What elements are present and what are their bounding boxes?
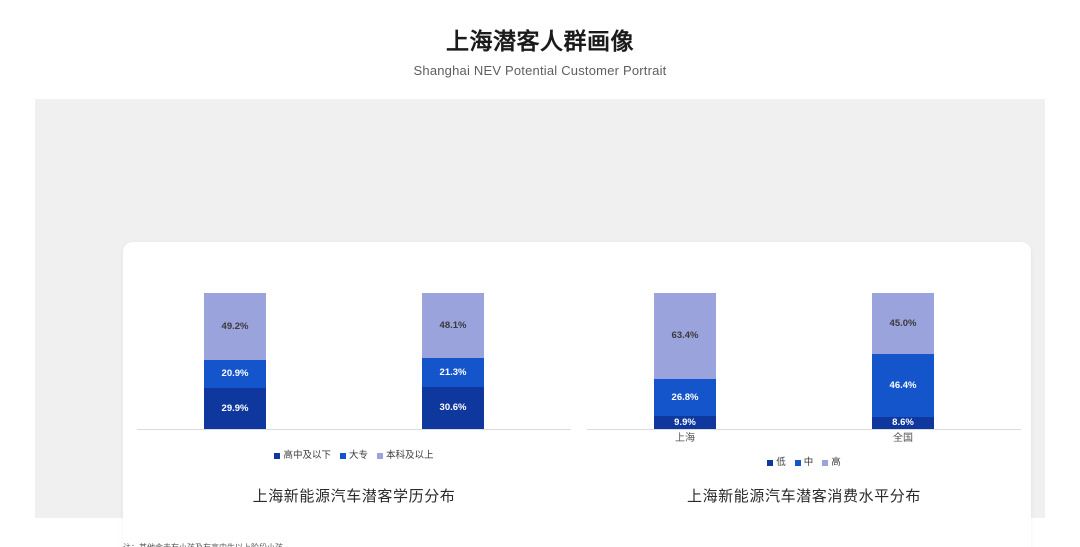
- bar-segment-label: 45.0%: [890, 319, 917, 329]
- bar-segment-label: 49.2%: [222, 322, 249, 332]
- category-label-shanghai: 上海: [654, 432, 716, 446]
- legend-swatch-high: [377, 453, 383, 459]
- bar-segment-label: 48.1%: [440, 321, 467, 331]
- legend-item: 中: [795, 457, 814, 468]
- bar-segment-label: 21.3%: [440, 368, 467, 378]
- legend-item: 高中及以下: [274, 450, 331, 461]
- chart-consumption-category-labels: 上海 全国: [579, 432, 1029, 448]
- chart-consumption-bar-2: 8.6% 46.4% 45.0%: [872, 293, 934, 429]
- legend-swatch-mid: [340, 453, 346, 459]
- bar-segment-high: 49.2%: [204, 293, 266, 360]
- bar-segment-high: 48.1%: [422, 293, 484, 358]
- bar-segment-mid: 20.9%: [204, 360, 266, 388]
- slide-panel: 29.9% 20.9% 49.2% 30.6%: [35, 99, 1045, 518]
- bar-segment-low: 8.6%: [872, 417, 934, 429]
- chart-education-bar-1: 29.9% 20.9% 49.2%: [204, 293, 266, 429]
- legend-swatch-low: [274, 453, 280, 459]
- bar-segment-label: 30.6%: [440, 403, 467, 413]
- page-header: 上海潜客人群画像 Shanghai NEV Potential Customer…: [0, 26, 1080, 79]
- legend-label: 大专: [349, 450, 368, 461]
- legend-label: 低: [776, 457, 786, 468]
- legend-label: 中: [804, 457, 814, 468]
- legend-swatch-mid: [795, 460, 801, 466]
- chart-education-caption: 上海新能源汽车潜客学历分布: [129, 487, 579, 507]
- legend-item: 高: [822, 457, 841, 468]
- legend-label: 本科及以上: [386, 450, 434, 461]
- category-label-national: 全国: [872, 432, 934, 446]
- bar-segment-label: 26.8%: [672, 393, 699, 403]
- chart-consumption-axis: [587, 429, 1021, 430]
- bar-segment-low: 9.9%: [654, 416, 716, 429]
- legend-swatch-high: [822, 460, 828, 466]
- page-subtitle: Shanghai NEV Potential Customer Portrait: [0, 62, 1080, 79]
- chart-education-axis: [137, 429, 571, 430]
- chart-consumption: 9.9% 26.8% 63.4% 8.6%: [579, 242, 1029, 547]
- chart-education: 29.9% 20.9% 49.2% 30.6%: [129, 242, 579, 547]
- chart-consumption-caption: 上海新能源汽车潜客消费水平分布: [579, 487, 1029, 507]
- bar-segment-label: 46.4%: [890, 381, 917, 391]
- footnote: 注：其他含未有小孩及有高中生以上阶段小孩: [123, 542, 623, 547]
- bar-segment-label: 8.6%: [892, 418, 914, 428]
- bar-segment-mid: 26.8%: [654, 379, 716, 415]
- legend-label: 高中及以下: [283, 450, 331, 461]
- chart-education-bar-2: 30.6% 21.3% 48.1%: [422, 293, 484, 429]
- legend-item: 大专: [340, 450, 368, 461]
- page-title: 上海潜客人群画像: [0, 26, 1080, 56]
- chart-consumption-legend: 低 中 高: [579, 457, 1029, 468]
- bar-segment-label: 9.9%: [674, 418, 696, 428]
- bar-segment-mid: 21.3%: [422, 358, 484, 387]
- bar-segment-low: 29.9%: [204, 388, 266, 429]
- chart-education-plot: 29.9% 20.9% 49.2% 30.6%: [129, 294, 579, 430]
- bar-segment-high: 63.4%: [654, 293, 716, 379]
- bar-segment-label: 63.4%: [672, 331, 699, 341]
- legend-swatch-low: [767, 460, 773, 466]
- bar-segment-label: 20.9%: [222, 369, 249, 379]
- page-root: 上海潜客人群画像 Shanghai NEV Potential Customer…: [0, 0, 1080, 547]
- chart-consumption-plot: 9.9% 26.8% 63.4% 8.6%: [579, 294, 1029, 430]
- legend-item: 低: [767, 457, 786, 468]
- legend-label: 高: [831, 457, 841, 468]
- bar-segment-mid: 46.4%: [872, 354, 934, 417]
- bar-segment-label: 29.9%: [222, 404, 249, 414]
- bar-segment-high: 45.0%: [872, 293, 934, 354]
- legend-item: 本科及以上: [377, 450, 434, 461]
- content-card: 29.9% 20.9% 49.2% 30.6%: [123, 242, 1031, 547]
- chart-consumption-bar-1: 9.9% 26.8% 63.4%: [654, 293, 716, 429]
- bar-segment-low: 30.6%: [422, 387, 484, 429]
- chart-education-legend: 高中及以下 大专 本科及以上: [129, 450, 579, 461]
